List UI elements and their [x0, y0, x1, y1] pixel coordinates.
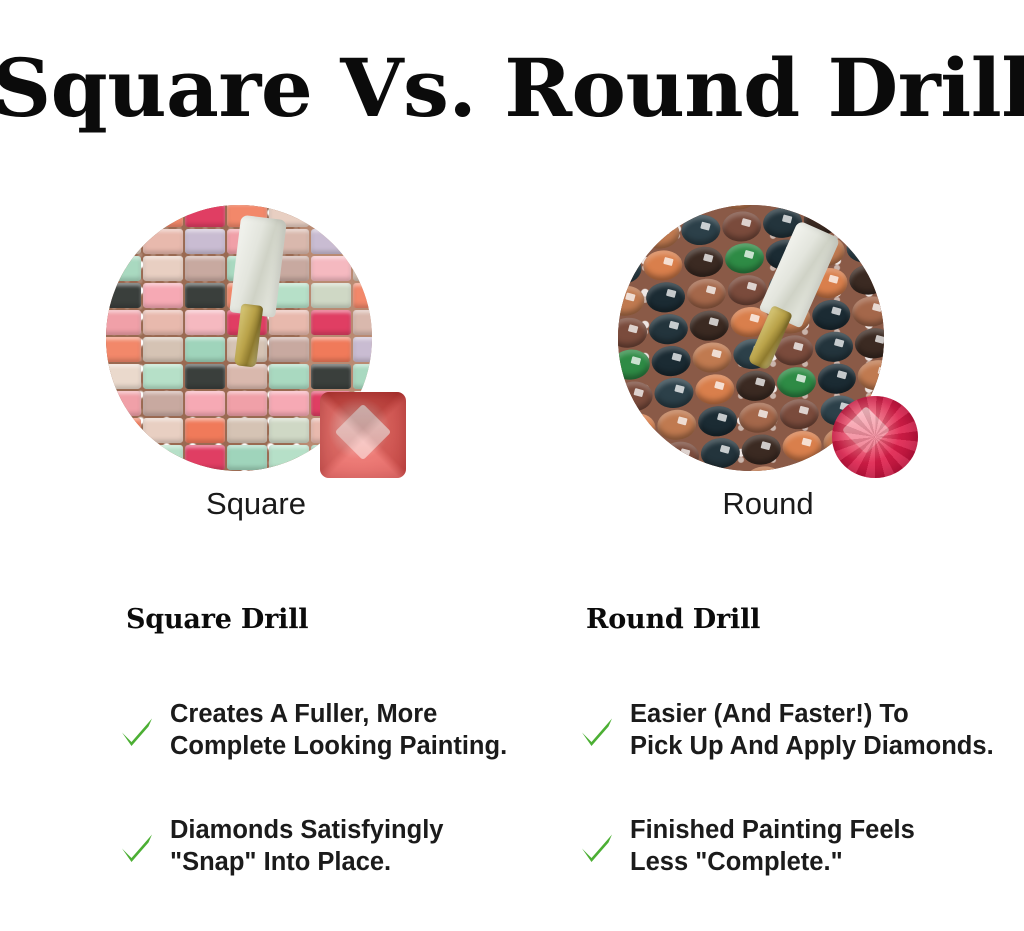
check-icon	[118, 828, 156, 866]
list-item: Finished Painting Feels Less "Complete."	[578, 815, 1024, 879]
square-gem-closeup	[320, 392, 406, 478]
square-photo-caption: Square	[0, 486, 512, 522]
list-item: Diamonds Satisfyingly "Snap" Into Place.	[118, 815, 578, 879]
list-item: Creates A Fuller, More Complete Looking …	[118, 699, 578, 763]
comparison-photos	[0, 198, 1024, 528]
check-icon	[578, 712, 616, 750]
round-photo-caption: Round	[512, 486, 1024, 522]
round-drill-feature-column: Round Drill Easier (And Faster!) To Pick…	[578, 604, 1024, 931]
list-item: Easier (And Faster!) To Pick Up And Appl…	[578, 699, 1024, 763]
round-gem-closeup	[832, 396, 918, 478]
square-drill-heading: Square Drill	[126, 604, 578, 635]
check-icon	[118, 712, 156, 750]
list-item-label: Diamonds Satisfyingly "Snap" Into Place.	[170, 815, 443, 879]
check-icon	[578, 828, 616, 866]
square-photo-wrap	[106, 198, 406, 478]
square-photo-column	[0, 198, 512, 528]
list-item-label: Finished Painting Feels Less "Complete."	[630, 815, 915, 879]
list-item-label: Creates A Fuller, More Complete Looking …	[170, 699, 507, 763]
page-title: Square Vs. Round Drill	[0, 48, 1024, 128]
round-photo-column	[512, 198, 1024, 528]
feature-comparison: Square Drill Creates A Fuller, More Comp…	[0, 604, 1024, 894]
list-item-label: Easier (And Faster!) To Pick Up And Appl…	[630, 699, 994, 763]
round-drill-heading: Round Drill	[586, 604, 1024, 635]
round-photo-wrap	[618, 198, 918, 478]
square-drill-feature-column: Square Drill Creates A Fuller, More Comp…	[118, 604, 578, 931]
